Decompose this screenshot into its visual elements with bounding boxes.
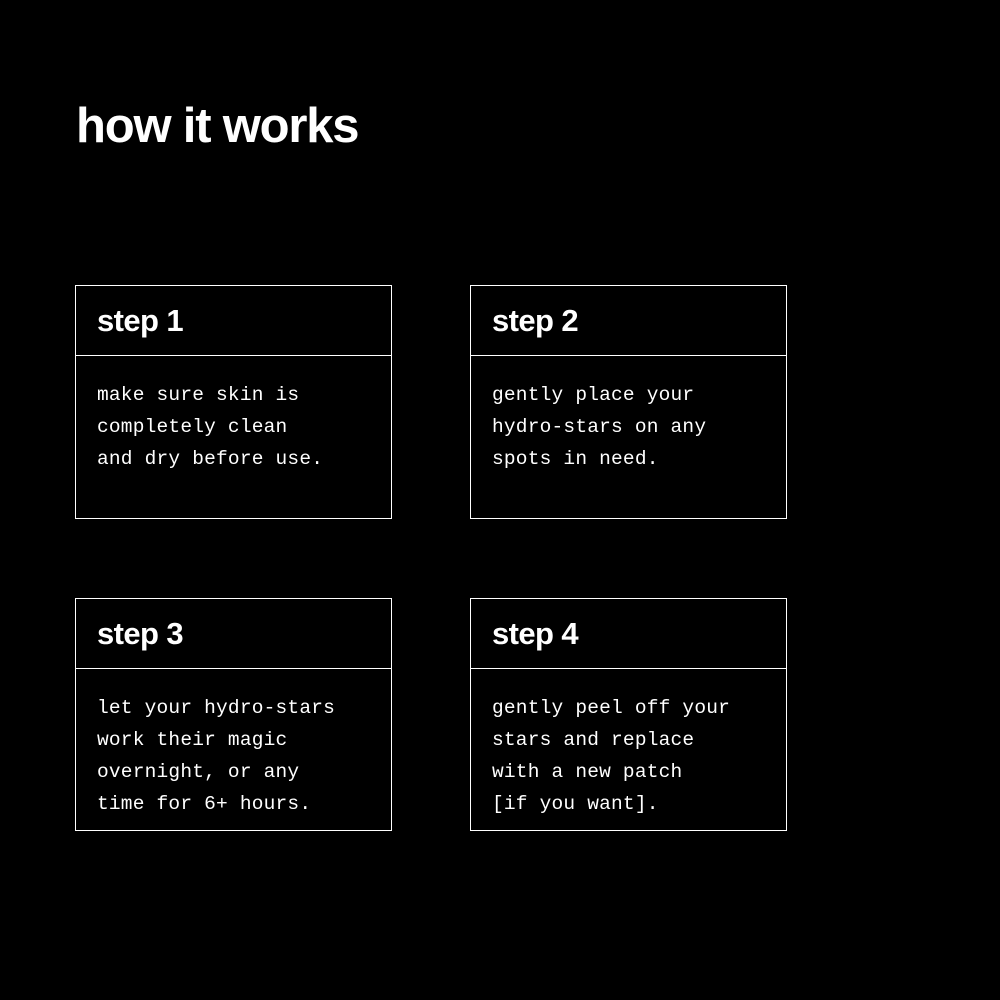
- step-card-4-header: step 4: [471, 599, 786, 669]
- step-card-1: step 1 make sure skin is completely clea…: [75, 285, 392, 519]
- step-card-3-title: step 3: [97, 617, 183, 651]
- step-card-1-body: make sure skin is completely clean and d…: [76, 356, 391, 518]
- step-card-2-body: gently place your hydro-stars on any spo…: [471, 356, 786, 518]
- step-card-4-text: gently peel off your stars and replace w…: [492, 692, 770, 820]
- step-card-4-body: gently peel off your stars and replace w…: [471, 669, 786, 830]
- step-card-2-title: step 2: [492, 304, 578, 338]
- step-card-1-title: step 1: [97, 304, 183, 338]
- step-card-1-text: make sure skin is completely clean and d…: [97, 379, 375, 475]
- step-card-1-header: step 1: [76, 286, 391, 356]
- step-card-4-title: step 4: [492, 617, 578, 651]
- how-it-works-page: how it works step 1 make sure skin is co…: [0, 0, 1000, 1000]
- step-card-3-text: let your hydro-stars work their magic ov…: [97, 692, 375, 820]
- step-card-3-body: let your hydro-stars work their magic ov…: [76, 669, 391, 830]
- step-card-3: step 3 let your hydro-stars work their m…: [75, 598, 392, 831]
- step-card-2-header: step 2: [471, 286, 786, 356]
- step-card-3-header: step 3: [76, 599, 391, 669]
- step-card-2-text: gently place your hydro-stars on any spo…: [492, 379, 770, 475]
- step-card-2: step 2 gently place your hydro-stars on …: [470, 285, 787, 519]
- steps-grid: step 1 make sure skin is completely clea…: [75, 285, 787, 831]
- step-card-4: step 4 gently peel off your stars and re…: [470, 598, 787, 831]
- page-title: how it works: [76, 96, 358, 156]
